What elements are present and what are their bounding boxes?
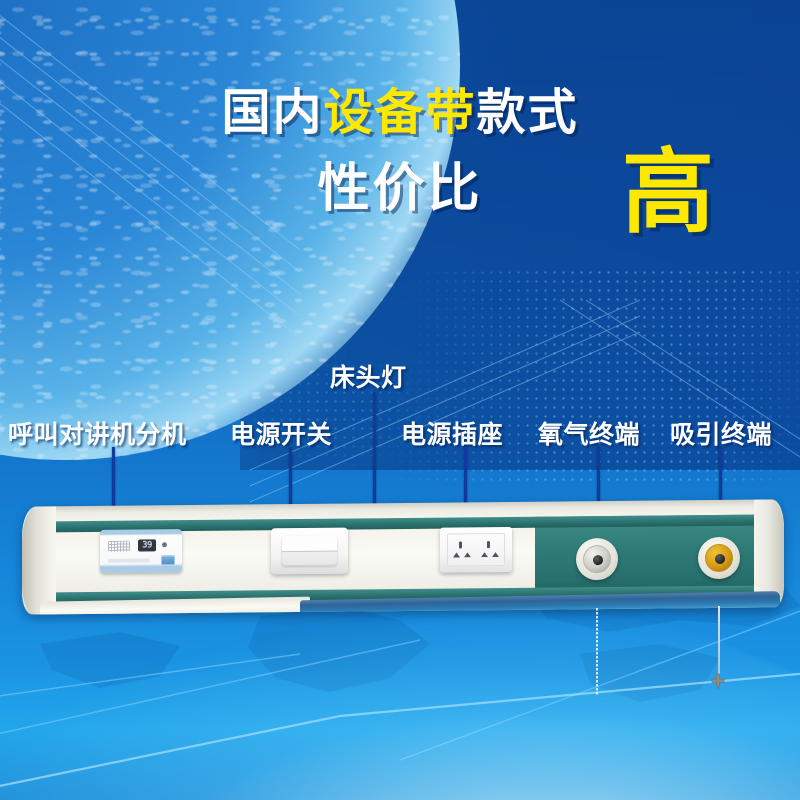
suction-outlet-ring [705, 544, 733, 572]
cord-hook-icon [708, 672, 728, 692]
socket-face [447, 533, 505, 567]
intercom-slot [108, 558, 150, 562]
callout-highlight-boxes [0, 0, 800, 800]
status-led-icon [162, 542, 167, 547]
oxygen-gas-outlet[interactable] [576, 538, 618, 580]
oxygen-outlet-ring [583, 545, 611, 573]
intercom-display: 39 [138, 539, 156, 551]
nurse-call-intercom[interactable]: 39 [100, 529, 182, 573]
suction-pull-cord [718, 606, 720, 678]
suction-gas-outlet[interactable] [698, 537, 740, 579]
universal-power-socket[interactable] [440, 527, 512, 573]
rocker-light-switch[interactable] [271, 528, 348, 575]
oxygen-pull-cord [596, 608, 598, 696]
bed-head-unit-panel: 39 [22, 497, 784, 633]
socket-slot-icon [481, 552, 488, 557]
intercom-call-button[interactable] [161, 555, 175, 565]
socket-slot-icon [464, 552, 471, 557]
poster-canvas: 国内设备带款式 性价比 高 呼叫对讲机分机 电源开关 床头灯 电源插座 氧气终端… [0, 0, 800, 800]
socket-slot-icon [492, 552, 499, 557]
speaker-grille-icon [108, 541, 130, 552]
panel-end-cap-left [22, 506, 56, 614]
socket-slot-icon [453, 552, 460, 557]
socket-pin-icon [459, 541, 462, 548]
socket-pin-icon [487, 541, 490, 548]
suction-outlet-port[interactable] [715, 554, 725, 564]
panel-body: 39 [22, 499, 784, 614]
oxygen-outlet-port[interactable] [593, 555, 603, 565]
